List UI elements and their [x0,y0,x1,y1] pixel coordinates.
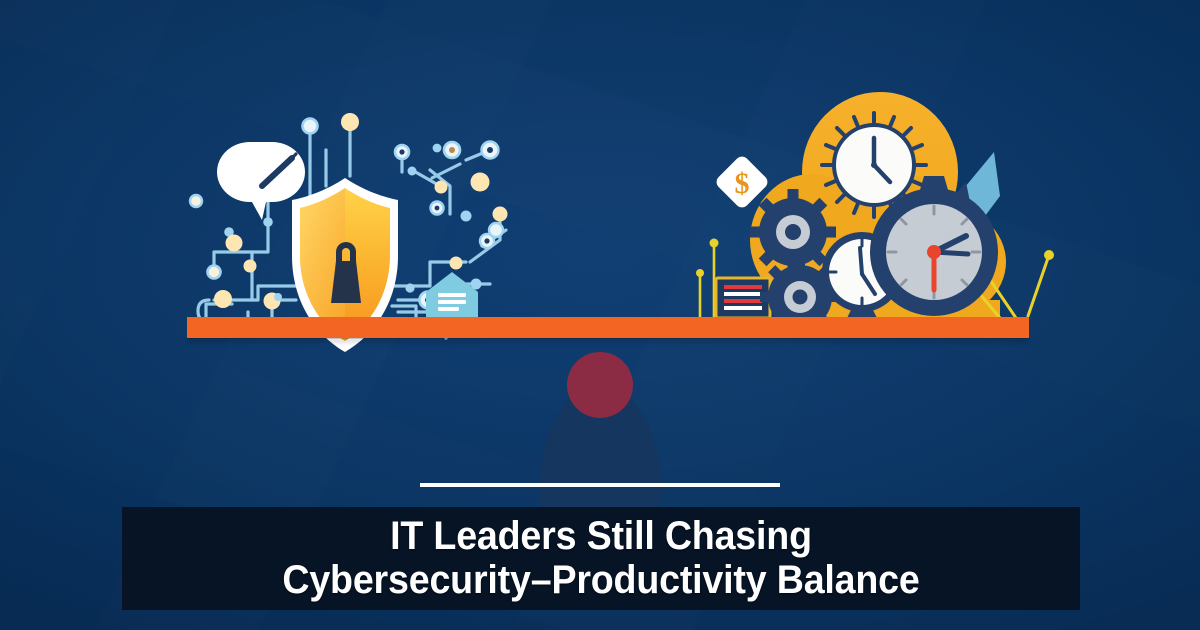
page-title-line-2: Cybersecurity–Productivity Balance [151,559,1052,602]
page-title: IT Leaders Still Chasing Cybersecurity–P… [151,515,1052,601]
poster-canvas: $ [0,0,1200,630]
fulcrum-cap [567,352,633,418]
balance-beam [187,317,1029,338]
title-divider [420,483,780,487]
balance-beam-shadow [187,338,1029,343]
title-banner: IT Leaders Still Chasing Cybersecurity–P… [122,507,1080,610]
page-title-line-1: IT Leaders Still Chasing [151,515,1052,558]
